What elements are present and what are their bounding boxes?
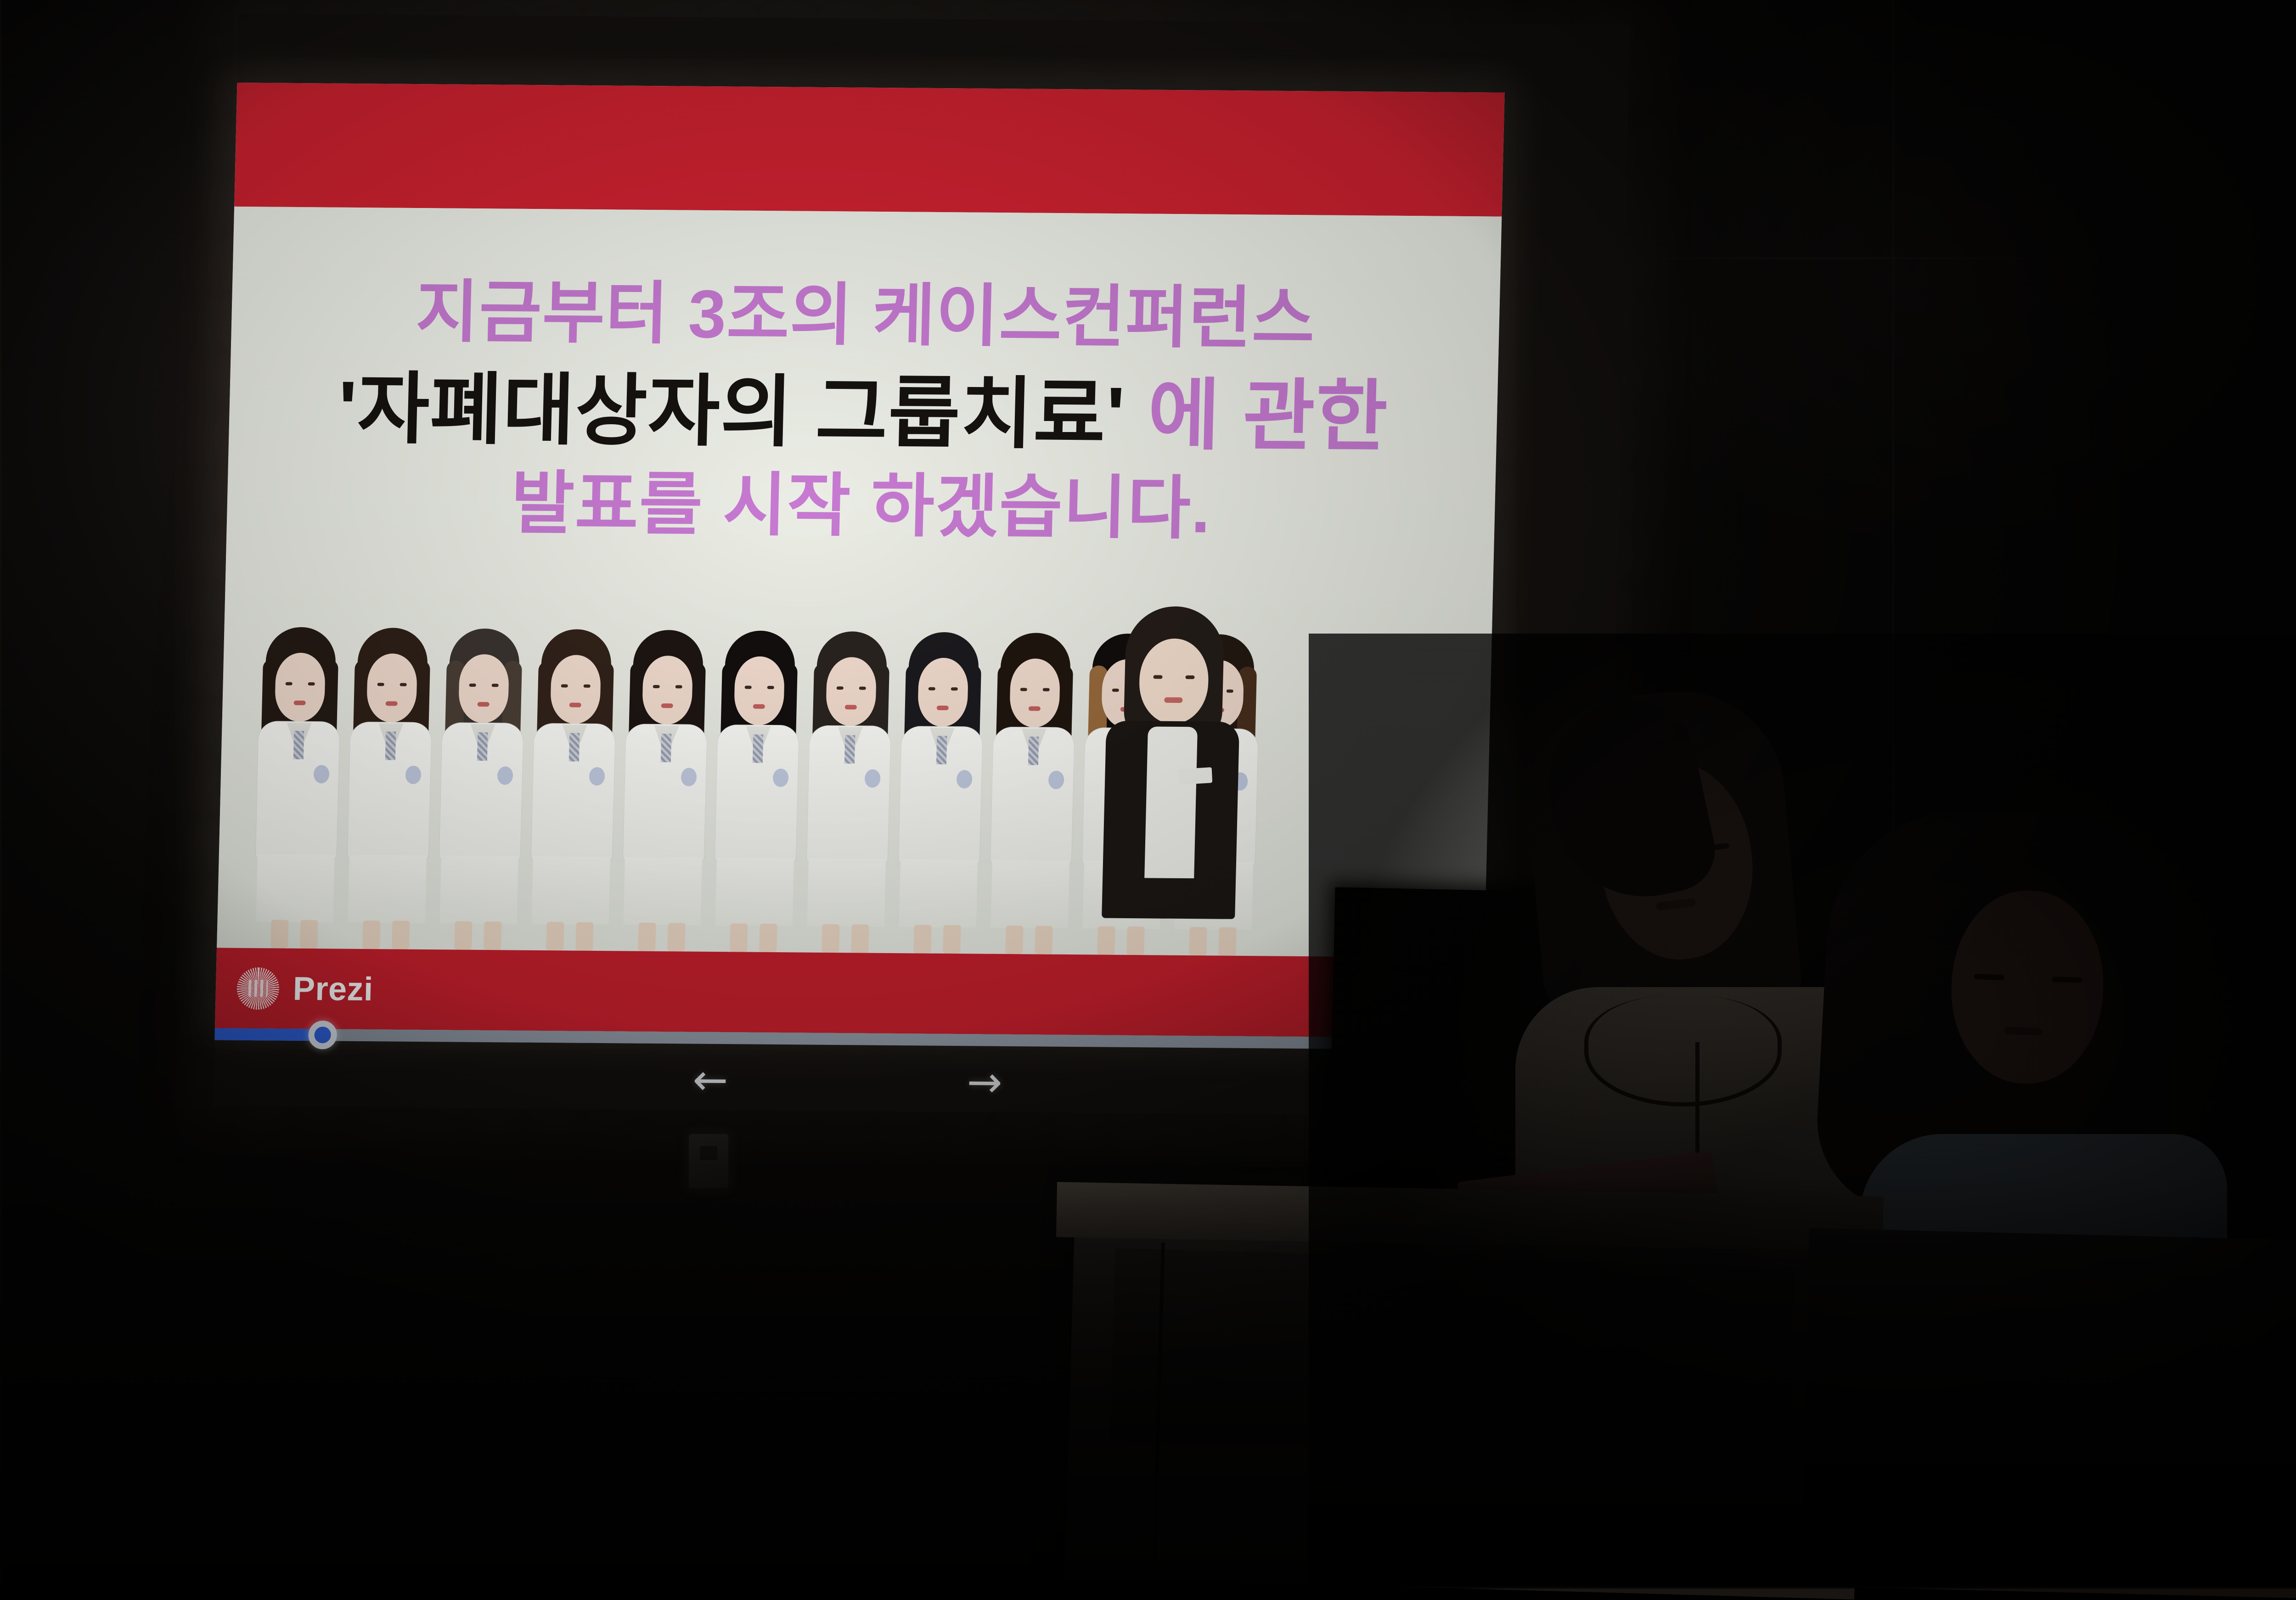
photo-instructor [1098,606,1244,956]
slide-group-photo [249,599,1327,956]
photo-student [524,629,622,951]
prezi-slide[interactable]: 지금부터 3조의 케이스컨퍼런스 '자폐대상자의 그룹치료' 에 관한 발표를 … [215,83,1505,1038]
photo-student [984,633,1081,954]
slide-title-suffix: 에 관한 [1125,371,1390,460]
wall-seam-horizontal [1635,257,2048,259]
prezi-brand-label: Prezi [293,970,374,1008]
progress-fill [214,1028,322,1041]
slide-content-area: 지금부터 3조의 케이스컨퍼런스 '자폐대상자의 그룹치료' 에 관한 발표를 … [217,207,1502,958]
prezi-footer-bar: Prezi [215,948,1484,1038]
photo-student [892,632,990,954]
lectern-side-panel [1801,1228,2296,1600]
next-slide-arrow-icon[interactable]: → [967,1061,1003,1104]
photo-student [800,631,898,953]
wall-outlet-icon [689,1134,728,1188]
photo-student [708,630,806,952]
photo-student [433,628,530,950]
photo-student [616,629,714,951]
wall-seam-left [0,0,2,1587]
photo-student [249,627,347,949]
lectern [1065,1192,1865,1600]
lecture-hall-scene: 지금부터 3조의 케이스컨퍼런스 '자폐대상자의 그룹치료' 에 관한 발표를 … [0,0,2296,1587]
prezi-logo-icon [236,967,280,1010]
photo-student [341,628,439,949]
previous-slide-arrow-icon[interactable]: ← [692,1059,728,1102]
presentation-nav-row: ← → [213,1046,1482,1116]
slide-top-red-band [234,83,1505,217]
slide-heading-line-3: 발표를 시작 하겠습니다. [226,445,1496,555]
lectern-front-panel [1110,1248,1795,1460]
wall-glow-right [1561,0,2296,551]
slide-title-quoted: '자폐대상자의 그룹치료' [337,365,1126,459]
